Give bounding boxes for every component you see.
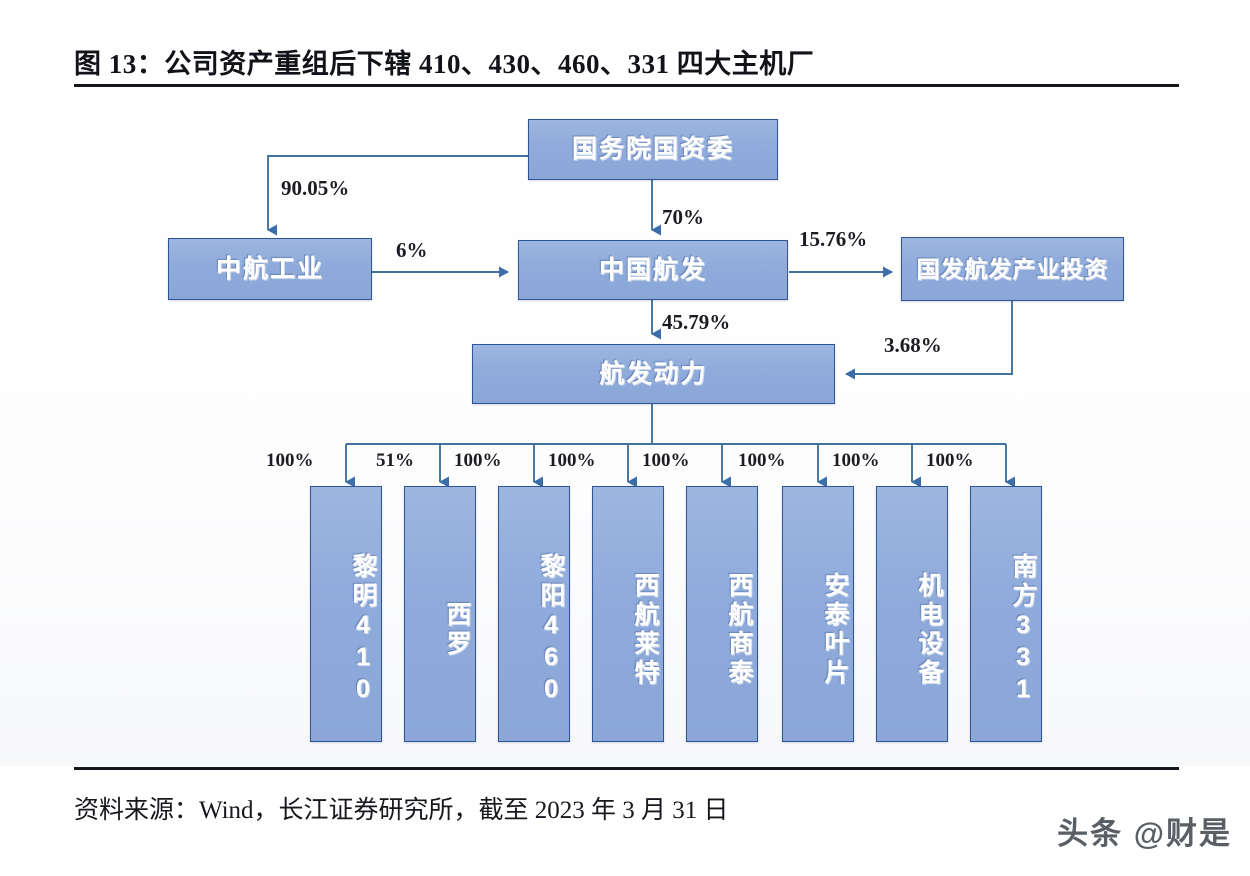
edge-label-sasac-avic: 90.05% bbox=[281, 176, 349, 201]
edge-label-aecc-power: 45.79% bbox=[662, 310, 730, 335]
edge-label-gfhf-power: 3.68% bbox=[884, 333, 942, 358]
node-label: 国发航发产业投资 bbox=[917, 256, 1109, 282]
edge-label-sub-4: 100% bbox=[548, 450, 596, 472]
edge-label-sub-5: 100% bbox=[642, 450, 690, 472]
node-label: 中航工业 bbox=[216, 255, 324, 284]
page-title: 图 13：公司资产重组后下辖 410、430、460、331 四大主机厂 bbox=[74, 40, 1179, 82]
node-label: 国务院国资委 bbox=[572, 135, 734, 164]
edge-label-sub-1: 100% bbox=[266, 450, 314, 472]
node-avic[interactable]: 中航工业 bbox=[168, 238, 372, 300]
header-divider bbox=[74, 84, 1179, 87]
node-label: 机电设备 bbox=[911, 572, 947, 688]
node-liyang460[interactable]: 黎阳460 bbox=[498, 486, 570, 742]
node-label: 航发动力 bbox=[599, 360, 707, 389]
figure-page: 图 13：公司资产重组后下辖 410、430、460、331 四大主机厂 bbox=[0, 0, 1250, 876]
node-antai-yepian[interactable]: 安泰叶片 bbox=[782, 486, 854, 742]
node-xihang-laite[interactable]: 西航莱特 bbox=[592, 486, 664, 742]
node-label: 中国航发 bbox=[599, 256, 707, 285]
node-gfhf[interactable]: 国发航发产业投资 bbox=[901, 237, 1124, 301]
node-label: 西罗 bbox=[439, 601, 475, 659]
source-note: 资料来源：Wind，长江证券研究所，截至 2023 年 3 月 31 日 bbox=[74, 790, 729, 826]
node-label: 黎阳460 bbox=[533, 553, 569, 707]
node-aecc-power[interactable]: 航发动力 bbox=[472, 344, 835, 404]
edge-label-sub-2: 51% bbox=[376, 450, 414, 472]
node-sasac[interactable]: 国务院国资委 bbox=[528, 119, 778, 180]
node-nanfang331[interactable]: 南方331 bbox=[970, 486, 1042, 742]
edge-label-sasac-aecc: 70% bbox=[662, 205, 704, 230]
node-liming410[interactable]: 黎明410 bbox=[310, 486, 382, 742]
edge-label-sub-7: 100% bbox=[832, 450, 880, 472]
org-chart-canvas: 国务院国资委 中航工业 中国航发 国发航发产业投资 航发动力 黎明410 西罗 … bbox=[0, 88, 1250, 766]
node-jidian-shebei[interactable]: 机电设备 bbox=[876, 486, 948, 742]
edge-label-avic-aecc: 6% bbox=[396, 238, 428, 263]
watermark: 头条 @财是 bbox=[1057, 808, 1232, 853]
node-label: 安泰叶片 bbox=[817, 572, 853, 688]
footer-divider bbox=[74, 767, 1179, 770]
node-xihang-shangtai[interactable]: 西航商泰 bbox=[686, 486, 758, 742]
edge-label-aecc-gfhf: 15.76% bbox=[799, 227, 867, 252]
edge-label-sub-3: 100% bbox=[454, 450, 502, 472]
edge-label-sub-8: 100% bbox=[926, 450, 974, 472]
node-label: 西航莱特 bbox=[627, 572, 663, 688]
node-xiluo[interactable]: 西罗 bbox=[404, 486, 476, 742]
edge-label-sub-6: 100% bbox=[738, 450, 786, 472]
node-aecc[interactable]: 中国航发 bbox=[518, 240, 788, 300]
node-label: 西航商泰 bbox=[721, 572, 757, 688]
node-label: 南方331 bbox=[1005, 553, 1041, 707]
node-label: 黎明410 bbox=[345, 553, 381, 707]
